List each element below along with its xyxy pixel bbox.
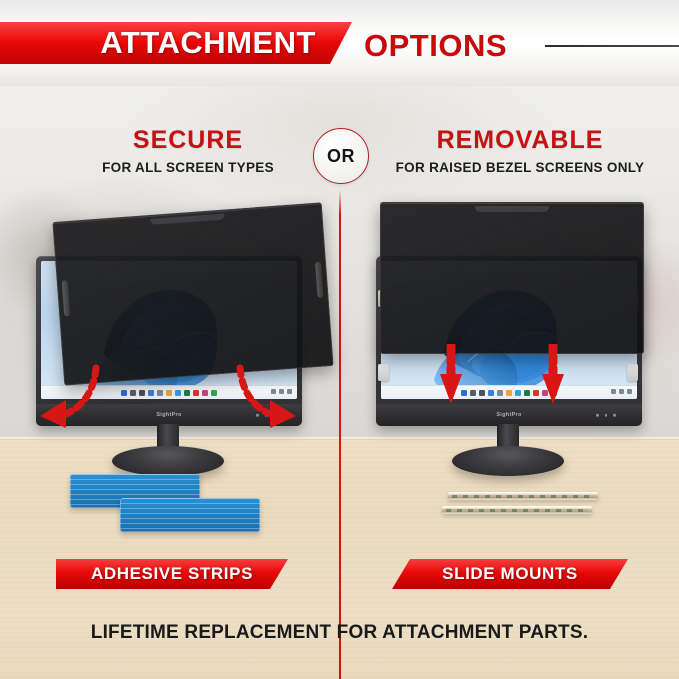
taskbar-right [381, 385, 637, 399]
chat-icon[interactable] [157, 390, 163, 396]
header-red-banner: ATTACHMENT [0, 22, 352, 64]
search-icon[interactable] [470, 390, 476, 396]
ribbon-adhesive-strips: ADHESIVE STRIPS [56, 559, 288, 589]
explorer-icon[interactable] [506, 390, 512, 396]
column-heading-removable: REMOVABLE FOR RAISED BEZEL SCREENS ONLY [372, 126, 668, 175]
network-icon[interactable] [611, 389, 616, 394]
widgets-icon[interactable] [488, 390, 494, 396]
column-subtitle-removable: FOR RAISED BEZEL SCREENS ONLY [372, 160, 668, 175]
curved-arrow-down-left-icon [36, 364, 106, 430]
task-view-icon[interactable] [139, 390, 145, 396]
powerpoint-icon[interactable] [533, 390, 539, 396]
vertical-divider [339, 190, 341, 679]
monitor-secure: SightPro [18, 196, 318, 466]
edge-icon[interactable] [515, 390, 521, 396]
system-tray-right[interactable] [611, 389, 632, 394]
start-icon[interactable] [121, 390, 127, 396]
powerpoint-icon[interactable] [193, 390, 199, 396]
ribbon-label-adhesive-strips: ADHESIVE STRIPS [91, 564, 253, 584]
straight-arrow-down-icon [540, 344, 566, 406]
privacy-filter-sliding-right[interactable] [380, 202, 644, 354]
header-title-highlight: ATTACHMENT [0, 22, 352, 64]
header-band: ATTACHMENT OPTIONS [0, 0, 679, 86]
ribbon-slide-mounts: SLIDE MOUNTS [392, 559, 628, 589]
adhesive-strips-group [70, 474, 270, 536]
monitor-buttons-right[interactable] [596, 414, 616, 417]
search-icon[interactable] [130, 390, 136, 396]
monitor-brand-right: SightPro [496, 412, 521, 418]
excel-icon[interactable] [524, 390, 530, 396]
infographic-canvas: ATTACHMENT OPTIONS SECURE FOR ALL SCREEN… [0, 0, 679, 679]
battery-icon[interactable] [627, 389, 632, 394]
store-icon[interactable] [211, 390, 217, 396]
horizontal-rule-icon [545, 45, 679, 47]
task-view-icon[interactable] [479, 390, 485, 396]
chat-icon[interactable] [497, 390, 503, 396]
adhesive-strip-2 [120, 498, 260, 532]
monitor-brand-left: SightPro [156, 412, 181, 418]
widgets-icon[interactable] [148, 390, 154, 396]
filter-notch-icon [475, 206, 549, 212]
explorer-icon[interactable] [166, 390, 172, 396]
slide-mount-clip-left-lower [378, 364, 389, 381]
header-title-rest: OPTIONS [364, 28, 507, 64]
column-title-secure: SECURE [58, 126, 318, 155]
slide-mount-1 [448, 492, 598, 500]
curved-arrow-down-right-icon [230, 364, 300, 430]
slide-mount-2 [442, 506, 592, 514]
excel-icon[interactable] [184, 390, 190, 396]
monitor-chin-right: SightPro [376, 404, 642, 426]
monitor-removable: SightPro [358, 196, 658, 466]
column-title-removable: REMOVABLE [372, 126, 668, 155]
or-badge: OR [313, 128, 369, 184]
column-heading-secure: SECURE FOR ALL SCREEN TYPES [58, 126, 318, 175]
ribbon-label-slide-mounts: SLIDE MOUNTS [442, 564, 578, 584]
slide-mounts-group [442, 492, 602, 526]
filter-notch-icon [150, 213, 224, 224]
footer-tagline: LIFETIME REPLACEMENT FOR ATTACHMENT PART… [0, 622, 679, 644]
edge-icon[interactable] [175, 390, 181, 396]
filter-tab-left-icon [62, 280, 71, 316]
straight-arrow-down-icon [438, 344, 464, 406]
filter-tab-right-icon [315, 262, 324, 298]
onenote-icon[interactable] [202, 390, 208, 396]
column-subtitle-secure: FOR ALL SCREEN TYPES [58, 160, 318, 175]
volume-icon[interactable] [619, 389, 624, 394]
slide-mount-clip-right-lower [627, 364, 638, 381]
privacy-filter-tilted-left[interactable] [52, 202, 333, 385]
